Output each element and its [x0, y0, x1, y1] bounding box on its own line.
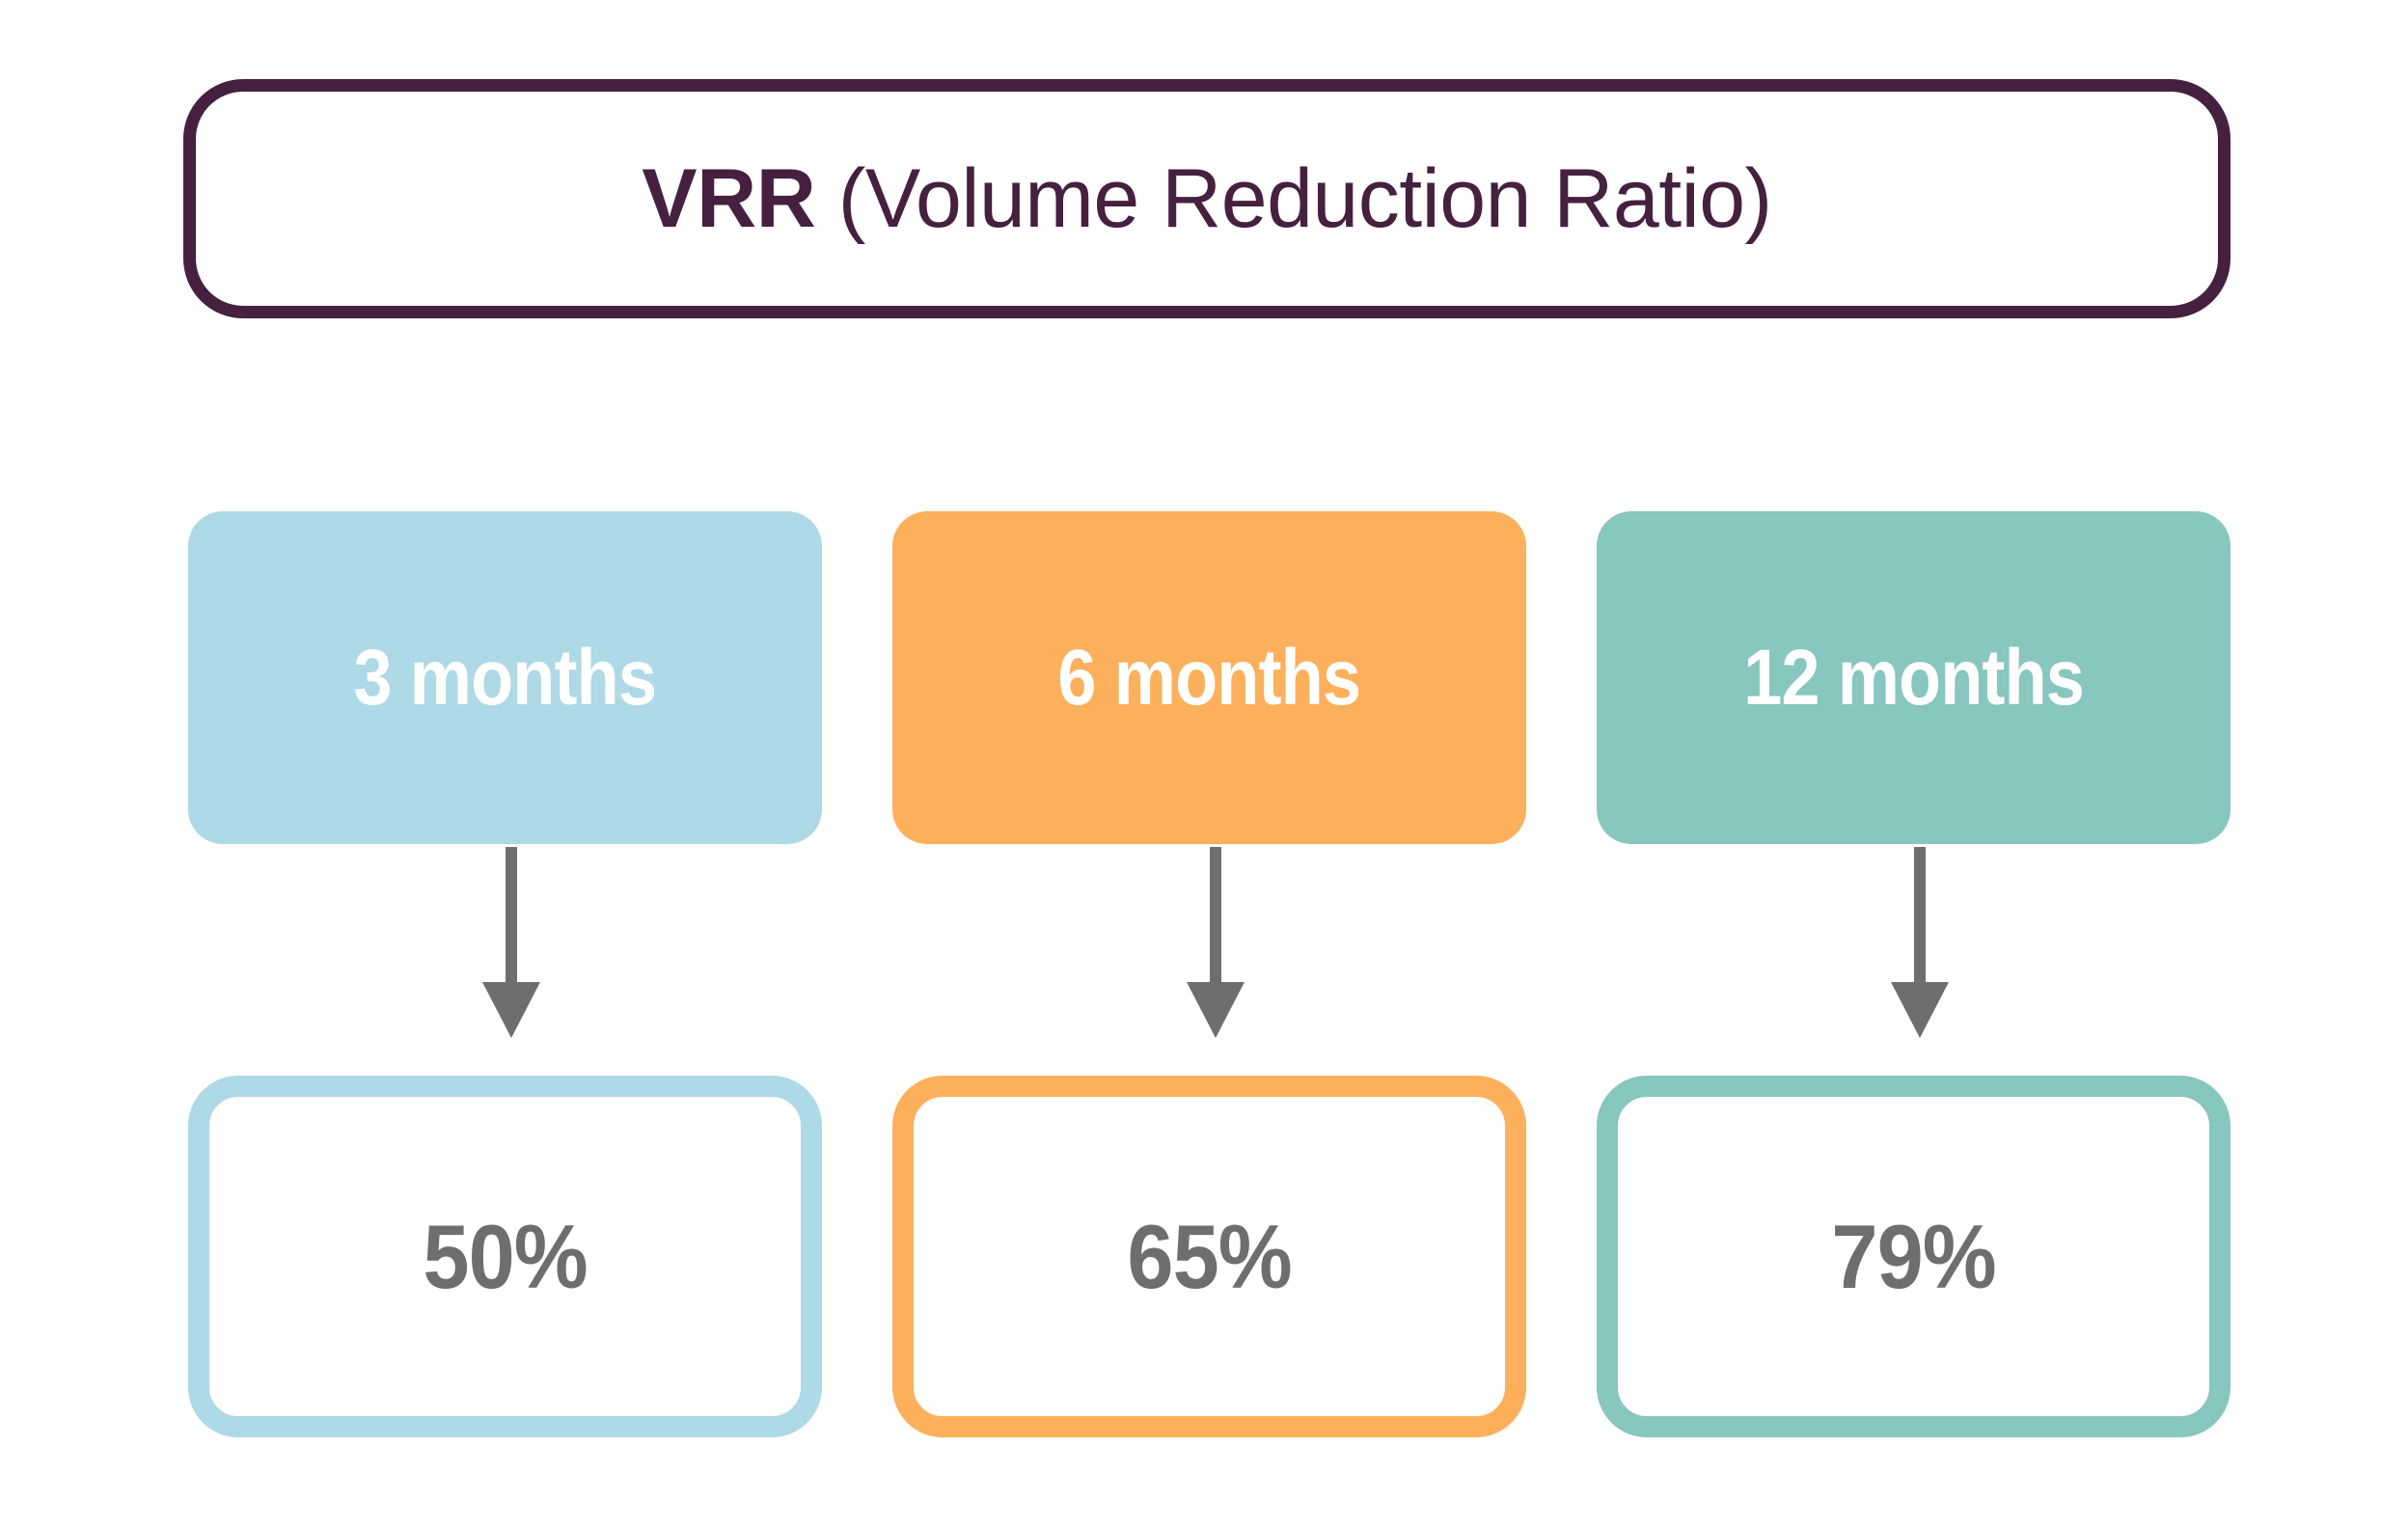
value-label: 50%: [423, 1205, 587, 1309]
column-6-months: 6 months 65%: [892, 511, 1526, 1437]
value-label: 65%: [1127, 1205, 1291, 1309]
value-label: 79%: [1831, 1205, 1995, 1309]
period-label: 12 months: [1743, 633, 2084, 724]
arrow-down-icon: [1177, 847, 1254, 1040]
arrow-down-icon: [473, 847, 550, 1040]
columns-container: 3 months 50% 6 months: [188, 511, 2230, 1437]
period-chip-12-months[interactable]: 12 months: [1597, 511, 2230, 844]
title-abbreviation: VRR: [642, 152, 815, 245]
value-card-6-months[interactable]: 65%: [892, 1076, 1526, 1437]
column-12-months: 12 months 79%: [1597, 511, 2230, 1437]
period-label: 3 months: [354, 633, 657, 724]
period-chip-6-months[interactable]: 6 months: [892, 511, 1526, 844]
page-title: VRR (Volume Reduction Ratio): [642, 157, 1771, 240]
infographic-canvas: VRR (Volume Reduction Ratio) 3 months 50…: [0, 0, 2408, 1530]
value-card-12-months[interactable]: 79%: [1597, 1076, 2230, 1437]
title-expansion: (Volume Reduction Ratio): [838, 152, 1772, 245]
period-label: 6 months: [1058, 633, 1361, 724]
value-card-3-months[interactable]: 50%: [188, 1076, 822, 1437]
arrow-down-icon: [1881, 847, 1958, 1040]
column-3-months: 3 months 50%: [188, 511, 822, 1437]
title-banner: VRR (Volume Reduction Ratio): [183, 79, 2230, 318]
period-chip-3-months[interactable]: 3 months: [188, 511, 822, 844]
